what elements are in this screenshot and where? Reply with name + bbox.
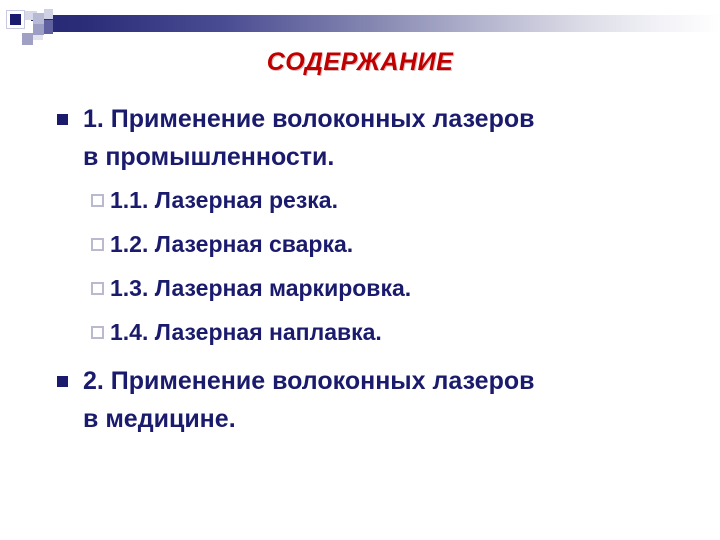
list-item-label: 1.3. Лазерная маркировка. bbox=[110, 275, 411, 301]
list-item: 1.2. Лазерная сварка. bbox=[0, 222, 720, 266]
header-ornament bbox=[0, 0, 720, 46]
list-item-line-2: в медицине. bbox=[83, 400, 702, 438]
deco-block-d bbox=[33, 24, 44, 35]
list-item-label: 1.2. Лазерная сварка. bbox=[110, 231, 353, 257]
slide-title: СОДЕРЖАНИЕ bbox=[0, 48, 720, 77]
hollow-square-bullet-icon bbox=[91, 326, 104, 339]
list-item-line-1: 1. Применение волоконных лазеров bbox=[83, 100, 702, 138]
filled-square-bullet-icon bbox=[57, 376, 68, 387]
list-item-label: 1.4. Лазерная наплавка. bbox=[110, 319, 382, 345]
list-item-label: 1.1. Лазерная резка. bbox=[110, 187, 338, 213]
deco-block-f bbox=[44, 9, 53, 19]
deco-block-g bbox=[44, 20, 53, 34]
list-item: 1.4. Лазерная наплавка. bbox=[0, 310, 720, 354]
filled-square-bullet-icon bbox=[57, 114, 68, 125]
presentation-slide: СОДЕРЖАНИЕ 1. Применение волоконных лазе… bbox=[0, 0, 720, 540]
hollow-square-bullet-icon bbox=[91, 282, 104, 295]
deco-square-accent bbox=[10, 14, 21, 25]
list-item: 2. Применение волоконных лазеров в медиц… bbox=[0, 362, 720, 438]
hollow-square-bullet-icon bbox=[91, 238, 104, 251]
deco-block-h bbox=[33, 35, 43, 40]
deco-block-c bbox=[33, 13, 44, 24]
list-item-line-2: в промышленности. bbox=[83, 138, 702, 176]
list-item: 1.3. Лазерная маркировка. bbox=[0, 266, 720, 310]
list-item: 1.1. Лазерная резка. bbox=[0, 178, 720, 222]
header-gradient-band bbox=[31, 15, 720, 32]
list-item-line-1: 2. Применение волоконных лазеров bbox=[83, 362, 702, 400]
hollow-square-bullet-icon bbox=[91, 194, 104, 207]
deco-block-e bbox=[22, 33, 33, 45]
list-item: 1. Применение волоконных лазеров в промы… bbox=[0, 100, 720, 176]
content-list: 1. Применение волоконных лазеров в промы… bbox=[0, 100, 720, 440]
